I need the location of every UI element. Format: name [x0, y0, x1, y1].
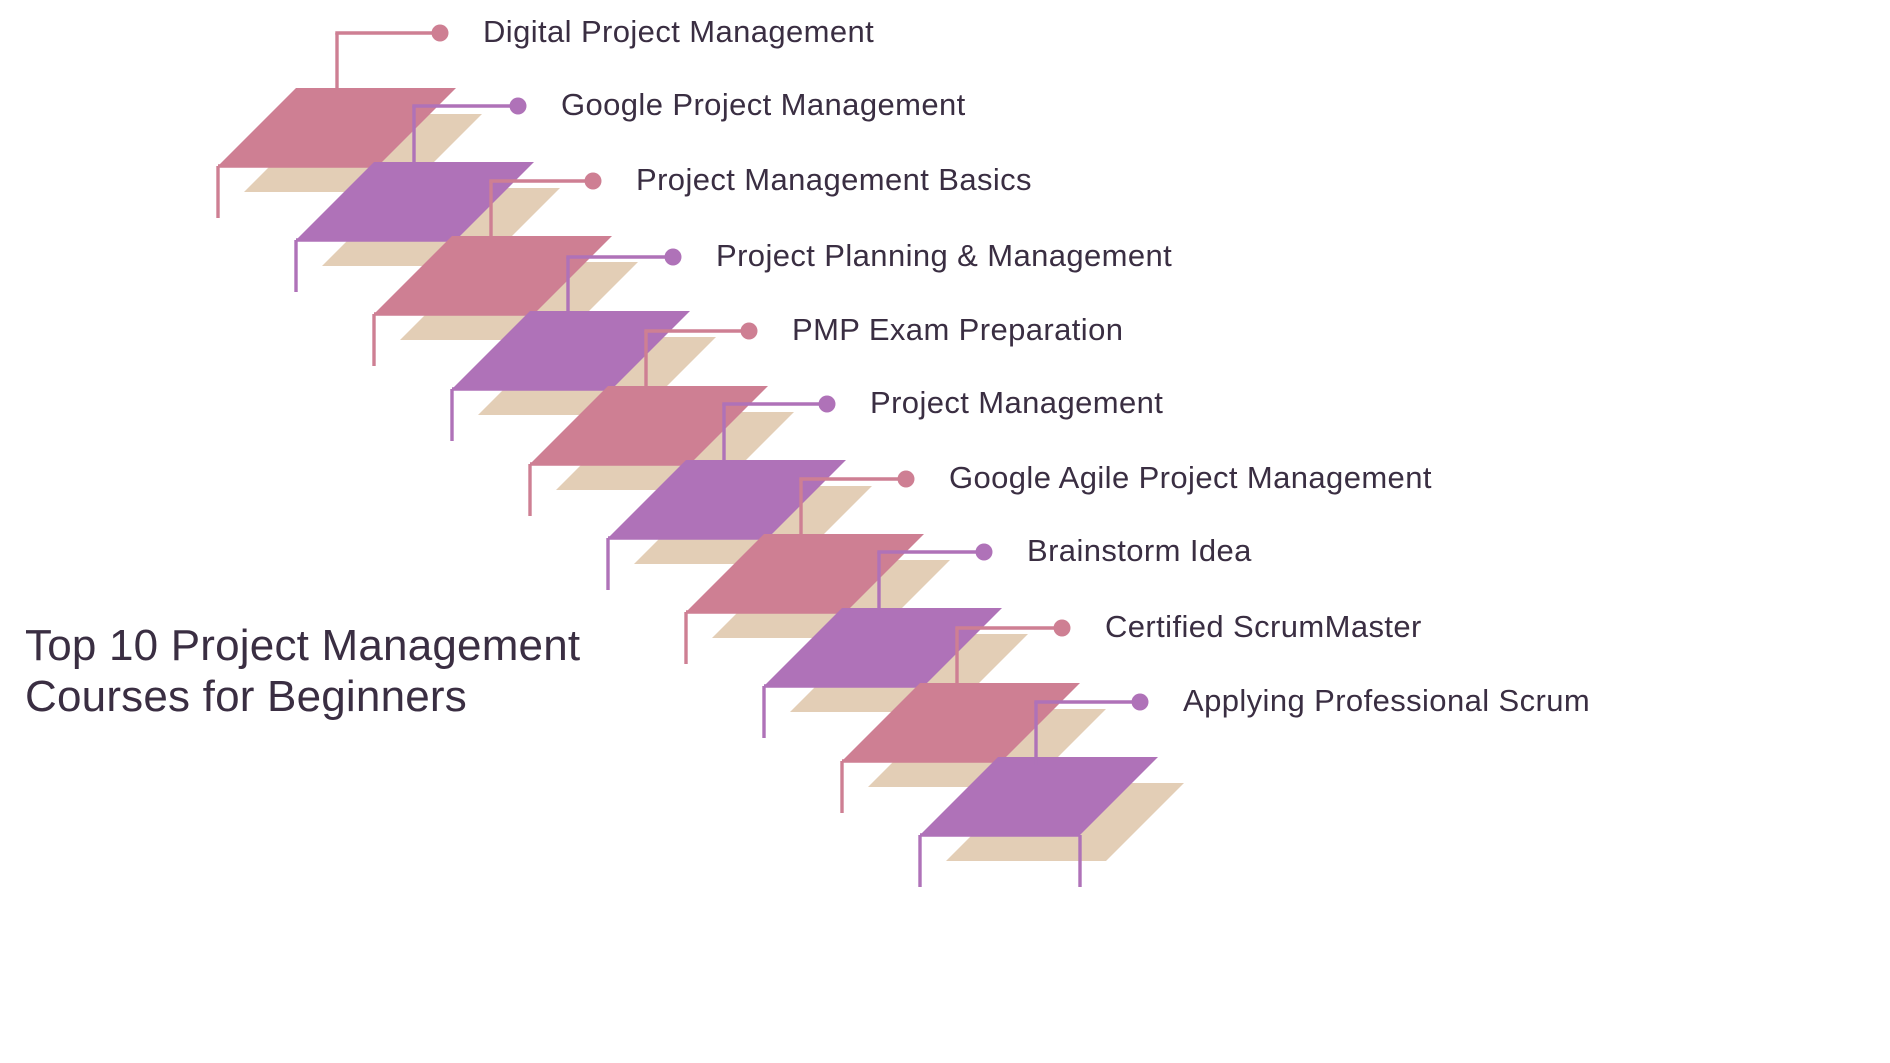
course-label-2[interactable]: Google Project Management: [561, 89, 966, 120]
course-label-9[interactable]: Certified ScrumMaster: [1105, 611, 1422, 642]
leader-dot-3: [585, 173, 602, 190]
title-line-2: Courses for Beginners: [25, 671, 745, 722]
course-label-3[interactable]: Project Management Basics: [636, 164, 1032, 195]
leader-dot-4: [665, 249, 682, 266]
leader-dot-7: [898, 471, 915, 488]
course-label-7[interactable]: Google Agile Project Management: [949, 462, 1432, 493]
leader-dot-5: [741, 323, 758, 340]
course-label-1[interactable]: Digital Project Management: [483, 16, 874, 47]
steps-illustration: [0, 0, 1890, 1063]
page-title: Top 10 Project Management Courses for Be…: [25, 620, 745, 723]
leader-dot-1: [432, 25, 449, 42]
leader-dot-9: [1054, 620, 1071, 637]
infographic-canvas: Top 10 Project Management Courses for Be…: [0, 0, 1890, 1063]
course-label-4[interactable]: Project Planning & Management: [716, 240, 1172, 271]
course-label-5[interactable]: PMP Exam Preparation: [792, 314, 1123, 345]
leader-dot-2: [510, 98, 527, 115]
course-label-8[interactable]: Brainstorm Idea: [1027, 535, 1252, 566]
course-label-10[interactable]: Applying Professional Scrum: [1183, 685, 1590, 716]
leader-line-1: [335, 25, 448, 97]
leader-dot-6: [819, 396, 836, 413]
leader-dot-8: [976, 544, 993, 561]
course-label-6[interactable]: Project Management: [870, 387, 1163, 418]
leader-dot-10: [1132, 694, 1149, 711]
title-line-1: Top 10 Project Management: [25, 620, 745, 671]
